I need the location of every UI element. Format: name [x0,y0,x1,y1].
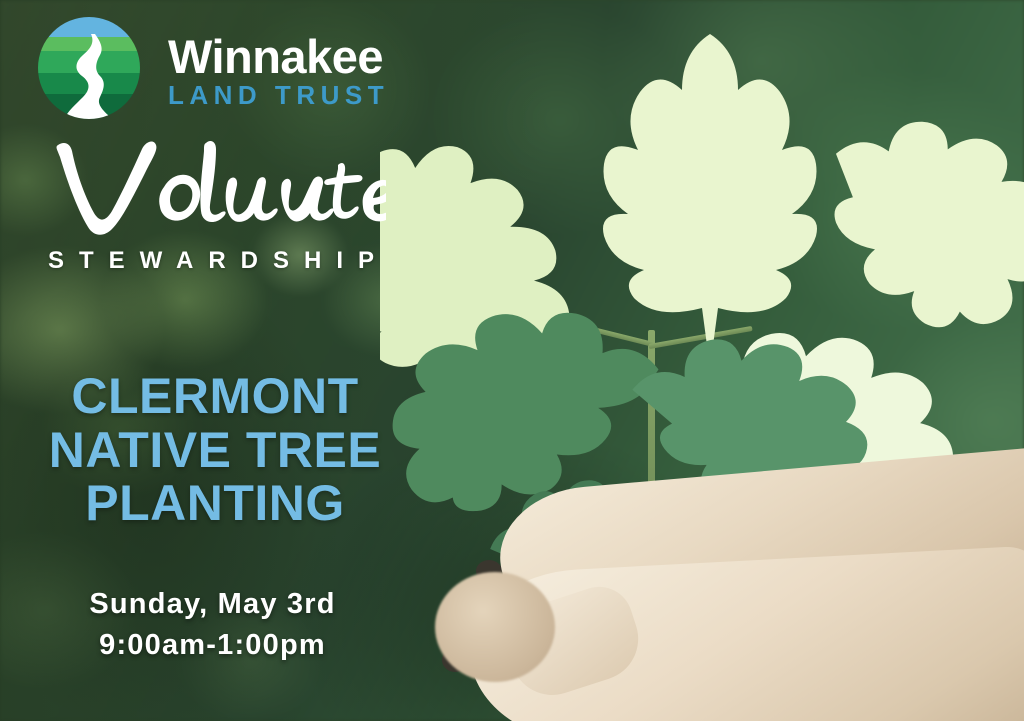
event-title-line-1: CLERMONT [0,370,430,424]
wordmark-name: Winnakee [168,34,389,80]
winnakee-circle-river-logo [38,17,140,133]
organization-logo-lockup[interactable]: Winnakee LAND TRUST [38,17,389,133]
organization-wordmark: Winnakee LAND TRUST [168,34,389,115]
volunteer-stewardship-flyer: Winnakee LAND TRUST [0,0,1024,721]
event-title-line-2: NATIVE TREE [0,424,430,478]
event-time: 9:00am-1:00pm [0,625,425,666]
stewardship-subtitle: STEWARDSHIP [48,247,389,275]
event-date: Sunday, May 3rd [0,584,425,625]
volunteer-script-wordmark [46,129,386,239]
wordmark-subtitle: LAND TRUST [168,82,389,109]
event-title: CLERMONT NATIVE TREE PLANTING [0,370,430,531]
event-datetime: Sunday, May 3rd 9:00am-1:00pm [0,584,425,666]
event-title-line-3: PLANTING [0,477,430,531]
flyer-content: Winnakee LAND TRUST [0,0,1024,721]
